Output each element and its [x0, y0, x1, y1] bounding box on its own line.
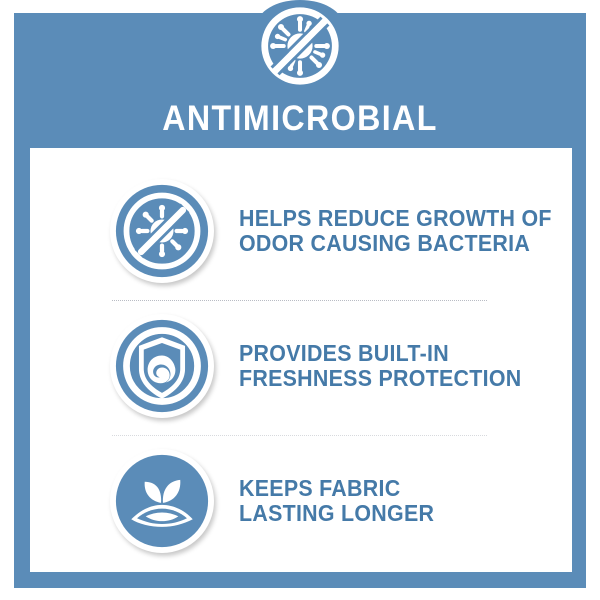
germ-blocked-circle-icon	[110, 179, 214, 283]
row-divider	[112, 300, 487, 302]
feature-text: HELPS REDUCE GROWTH OF ODOR CAUSING BACT…	[239, 206, 552, 256]
shield-swirl-icon	[110, 314, 214, 418]
feature-text: KEEPS FABRIC LASTING LONGER	[239, 476, 434, 526]
feature-line-1: PROVIDES BUILT-IN	[239, 341, 522, 366]
feature-row: HELPS REDUCE GROWTH OF ODOR CAUSING BACT…	[30, 172, 572, 290]
icon-badge	[110, 449, 214, 553]
feature-row: KEEPS FABRIC LASTING LONGER	[30, 442, 572, 560]
feature-text: PROVIDES BUILT-IN FRESHNESS PROTECTION	[239, 341, 522, 391]
sprout-leaf-icon	[110, 449, 214, 553]
virus-blocked-icon	[258, 4, 342, 88]
feature-line-1: HELPS REDUCE GROWTH OF	[239, 206, 552, 231]
feature-line-2: ODOR CAUSING BACTERIA	[239, 231, 552, 256]
feature-row: PROVIDES BUILT-IN FRESHNESS PROTECTION	[30, 307, 572, 425]
content-panel: HELPS REDUCE GROWTH OF ODOR CAUSING BACT…	[30, 148, 572, 572]
antimicrobial-infographic: ANTIMICROBIAL	[0, 0, 600, 600]
icon-badge	[110, 314, 214, 418]
feature-line-1: KEEPS FABRIC	[239, 476, 434, 501]
header-band: ANTIMICROBIAL	[14, 13, 586, 148]
page-title: ANTIMICROBIAL	[37, 99, 563, 139]
icon-badge	[110, 179, 214, 283]
row-divider	[112, 435, 487, 437]
feature-line-2: FRESHNESS PROTECTION	[239, 366, 522, 391]
feature-line-2: LASTING LONGER	[239, 501, 434, 526]
feature-list: HELPS REDUCE GROWTH OF ODOR CAUSING BACT…	[30, 148, 572, 572]
